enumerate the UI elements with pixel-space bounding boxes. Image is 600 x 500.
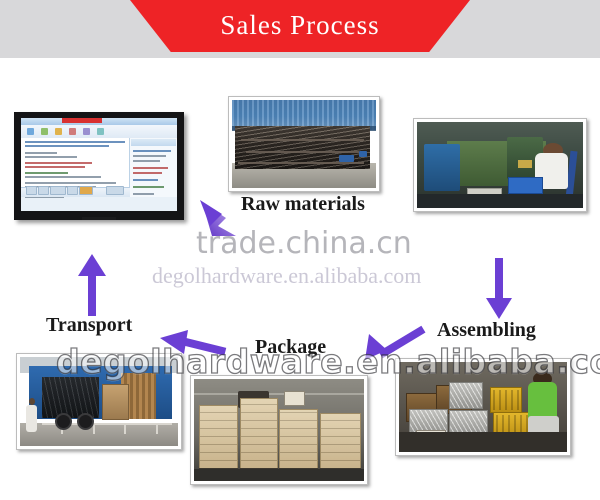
photo-package [190,375,368,485]
header-banner: Sales Process [130,0,470,52]
contact-side-pane [130,138,177,197]
photo-assembling [413,118,587,212]
photo-raw-materials [228,96,380,192]
window-red-tab [62,118,103,123]
carton-stack [320,413,361,470]
header-strip: Sales Process [0,0,600,58]
label-assembling: Assembling [437,320,536,340]
monitor-graphic [14,112,184,220]
package-graphic [194,379,364,481]
workshop-floor [417,194,583,208]
worker-beside-truck [26,405,37,432]
window-ribbon [21,125,177,139]
page-title: Sales Process [220,12,379,39]
ribbon-icon-1 [27,128,34,135]
photo-packing-worker [395,358,571,456]
warehouse-floor [194,469,364,481]
watermark-degolhardware-small: degolhardware.en.alibaba.com [152,265,421,287]
arrow-down-to-assembling [484,258,514,320]
ribbon-icon-5 [83,128,90,135]
blue-parts-bin [508,177,543,194]
photo-transport [16,353,182,450]
packing-floor [399,432,567,452]
label-raw-materials: Raw materials [241,194,365,214]
photo-monitor-inquiry [14,112,184,220]
carton-stack [279,409,318,470]
transport-graphic [20,357,178,446]
yellow-crate [490,387,522,412]
work-piece [518,160,531,169]
raw-materials-graphic [232,100,376,188]
truck-tarp [42,377,99,418]
monitor-screen [21,118,177,211]
arrow-up-to-monitor [76,252,108,316]
assembling-graphic [417,122,583,208]
sales-process-infographic: Sales Process [0,0,600,500]
label-package: Package [255,337,326,357]
road-ground [20,423,178,446]
wrapped-bundle [449,382,483,409]
blue-drill-press [424,144,461,190]
arrow-down-left-to-package [363,320,427,366]
editor-toolbar [21,187,130,197]
arrow-left-to-transport [160,328,226,368]
packing-graphic [399,362,567,452]
monitor-stand [82,217,116,220]
cargo-crate [102,384,129,420]
warehouse-sign [284,391,305,406]
carton-stack [240,398,278,469]
arrow-up-left-to-monitor [196,196,240,242]
ribbon-icon-2 [41,128,48,135]
carton-stack [199,405,238,470]
ribbon-icon-3 [55,128,62,135]
ribbon-icon-6 [97,128,104,135]
label-transport: Transport [46,315,132,335]
side-pane-header [131,139,176,146]
ribbon-icon-4 [69,128,76,135]
